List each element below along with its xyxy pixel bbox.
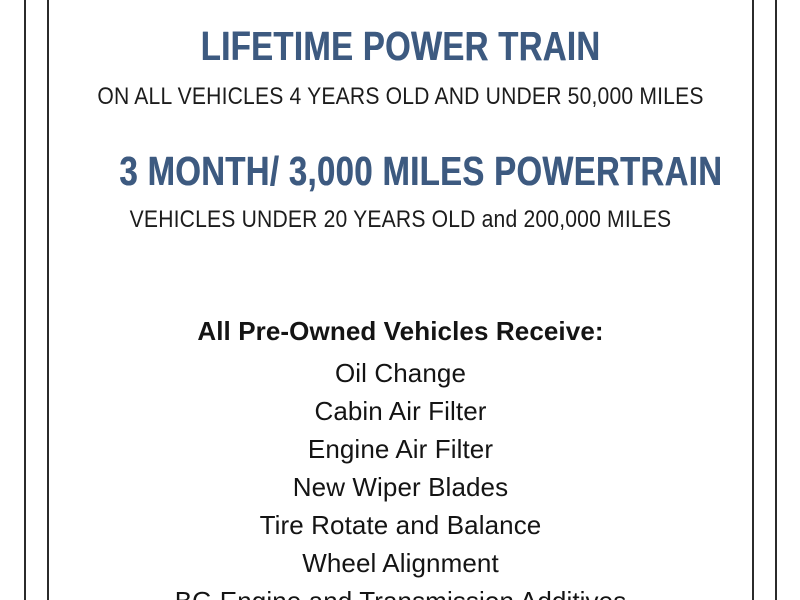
warranty-block-lifetime: LIFETIME POWER TRAIN ON ALL VEHICLES 4 Y… xyxy=(49,0,752,109)
border-rule-left-inner xyxy=(24,0,26,600)
services-list-item: Cabin Air Filter xyxy=(49,392,752,430)
warranty-title-lifetime: LIFETIME POWER TRAIN xyxy=(119,26,681,67)
services-heading: All Pre-Owned Vehicles Receive: xyxy=(49,318,752,344)
services-list-item: Oil Change xyxy=(49,354,752,392)
services-list-item: Engine Air Filter xyxy=(49,430,752,468)
services-list: Oil Change Cabin Air Filter Engine Air F… xyxy=(49,354,752,600)
border-rule-right-outer xyxy=(775,0,777,600)
services-list-item: Tire Rotate and Balance xyxy=(49,506,752,544)
border-rule-right-inner xyxy=(752,0,754,600)
warranty-subtitle-three-month: VEHICLES UNDER 20 YEARS OLD and 200,000 … xyxy=(91,208,710,232)
services-list-item: BG Engine and Transmission Additives xyxy=(49,582,752,600)
warranty-title-three-month: 3 MONTH/ 3,000 MILES POWERTRAIN xyxy=(119,151,681,192)
services-list-item: New Wiper Blades xyxy=(49,468,752,506)
flyer-page: LIFETIME POWER TRAIN ON ALL VEHICLES 4 Y… xyxy=(0,0,800,600)
flyer-content: LIFETIME POWER TRAIN ON ALL VEHICLES 4 Y… xyxy=(49,0,752,600)
warranty-subtitle-lifetime: ON ALL VEHICLES 4 YEARS OLD AND UNDER 50… xyxy=(91,85,710,109)
warranty-block-three-month: 3 MONTH/ 3,000 MILES POWERTRAIN VEHICLES… xyxy=(49,109,752,232)
services-section: All Pre-Owned Vehicles Receive: Oil Chan… xyxy=(49,232,752,600)
services-list-item: Wheel Alignment xyxy=(49,544,752,582)
